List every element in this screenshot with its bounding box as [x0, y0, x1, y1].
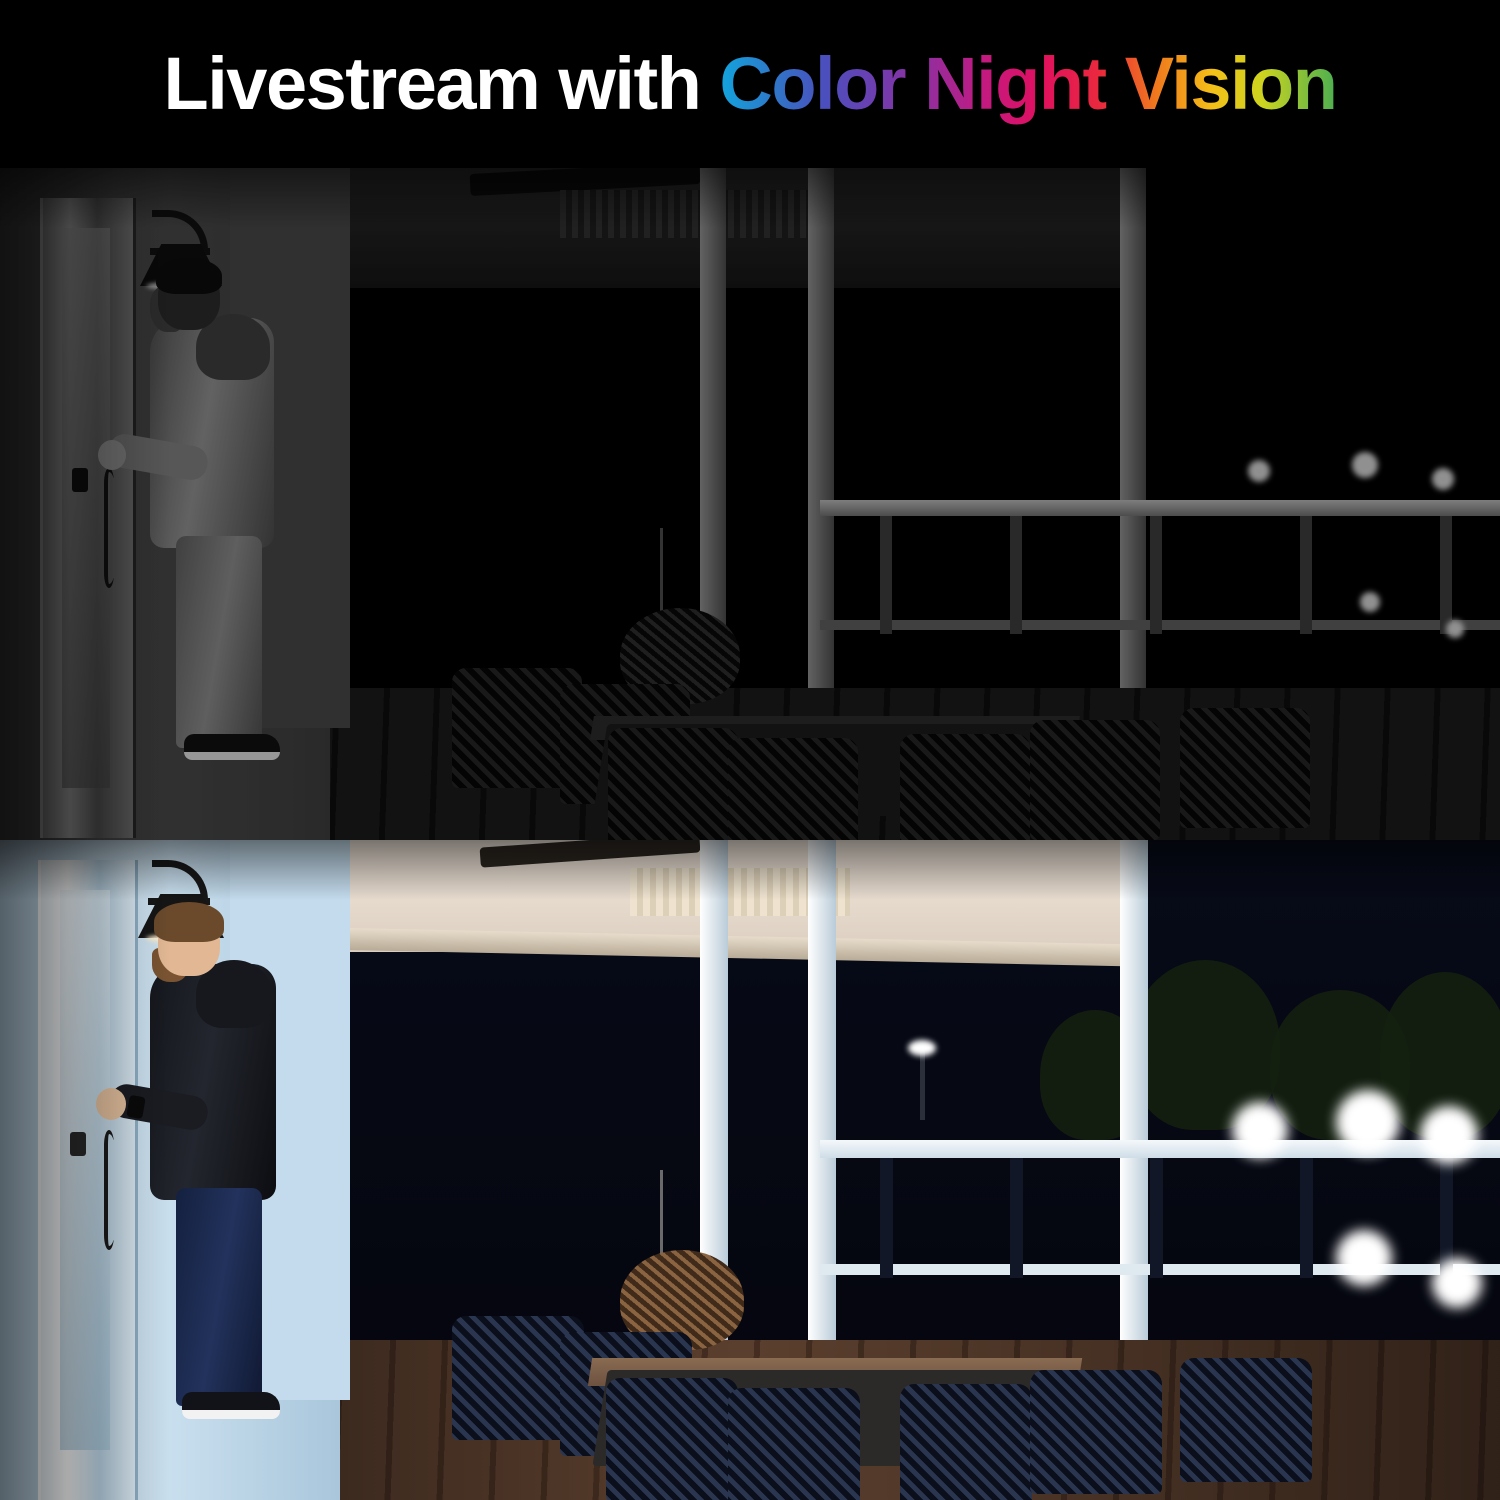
mono-camera-scene: [0, 168, 1500, 840]
mono-person-shoe-sole: [184, 752, 280, 760]
color-camera-scene: [0, 840, 1500, 1500]
color-night-vision-panel: Color Night Vision: [0, 840, 1500, 1500]
color-yard-lamp-post: [920, 1050, 925, 1120]
color-door-lock: [70, 1132, 86, 1156]
color-string-light-core: [1448, 1274, 1466, 1292]
color-person-hand: [96, 1088, 126, 1120]
mono-porch-column: [1120, 168, 1146, 688]
mono-railing-post: [1010, 516, 1022, 634]
mono-string-light: [1248, 460, 1270, 482]
mono-deck-railing: [820, 500, 1500, 516]
mono-railing-post: [1150, 516, 1162, 634]
mono-railing-post: [1440, 516, 1452, 634]
headline-plain-text: Livestream with: [164, 42, 720, 125]
color-door-handle: [104, 1130, 114, 1250]
mono-person-hand: [98, 440, 126, 470]
product-comparison-image: Livestream with Color Night Vision: [0, 0, 1500, 1500]
mono-railing-post: [1300, 516, 1312, 634]
color-string-light-core: [1440, 1126, 1460, 1146]
mono-string-light: [1446, 620, 1464, 638]
color-railing-post: [880, 1158, 893, 1278]
mono-person-hair: [156, 258, 222, 294]
mono-string-light: [1360, 592, 1380, 612]
mono-railing-post: [880, 516, 892, 634]
mono-patio-chair: [1180, 708, 1310, 828]
color-person-hair: [154, 902, 224, 942]
color-patio-chair: [1180, 1358, 1312, 1482]
mono-egg-chair-chain: [660, 528, 663, 616]
traditional-night-vision-panel: Traditional Night Vision: [0, 168, 1500, 840]
mono-door-glass: [62, 228, 110, 788]
mono-patio-chair: [900, 734, 1030, 840]
color-railing-post: [1300, 1158, 1313, 1278]
mono-patio-chair: [728, 738, 858, 840]
color-string-light-core: [1356, 1110, 1380, 1134]
mono-soffit-beadboard: [560, 190, 810, 238]
mono-door-lock: [72, 468, 88, 492]
color-person-legs: [176, 1188, 262, 1406]
color-deck-railing: [820, 1140, 1500, 1158]
headline-banner: Livestream with Color Night Vision: [0, 0, 1500, 168]
page-title: Livestream with Color Night Vision: [164, 47, 1337, 121]
color-patio-chair: [900, 1384, 1032, 1500]
color-door-glass: [60, 890, 110, 1450]
color-string-light-core: [1250, 1120, 1270, 1140]
color-string-light-core: [1354, 1248, 1374, 1268]
mono-string-light: [1352, 452, 1378, 478]
color-patio-chair: [606, 1378, 738, 1500]
mono-string-light: [1432, 468, 1454, 490]
color-yard-lamp-bulb: [908, 1040, 936, 1056]
mono-person-legs: [176, 536, 262, 748]
color-porch-column: [808, 840, 836, 1360]
headline-accent-text: Color Night Vision: [719, 42, 1336, 125]
mono-door-handle: [104, 468, 114, 588]
color-railing-post: [1010, 1158, 1023, 1278]
color-railing-post: [1150, 1158, 1163, 1278]
color-person-shoe-sole: [182, 1410, 280, 1419]
color-patio-chair: [728, 1388, 860, 1500]
mono-patio-chair: [1030, 720, 1160, 840]
color-patio-chair: [1030, 1370, 1162, 1494]
mono-patio-chair: [608, 728, 738, 840]
color-egg-chair-chain: [660, 1170, 663, 1256]
